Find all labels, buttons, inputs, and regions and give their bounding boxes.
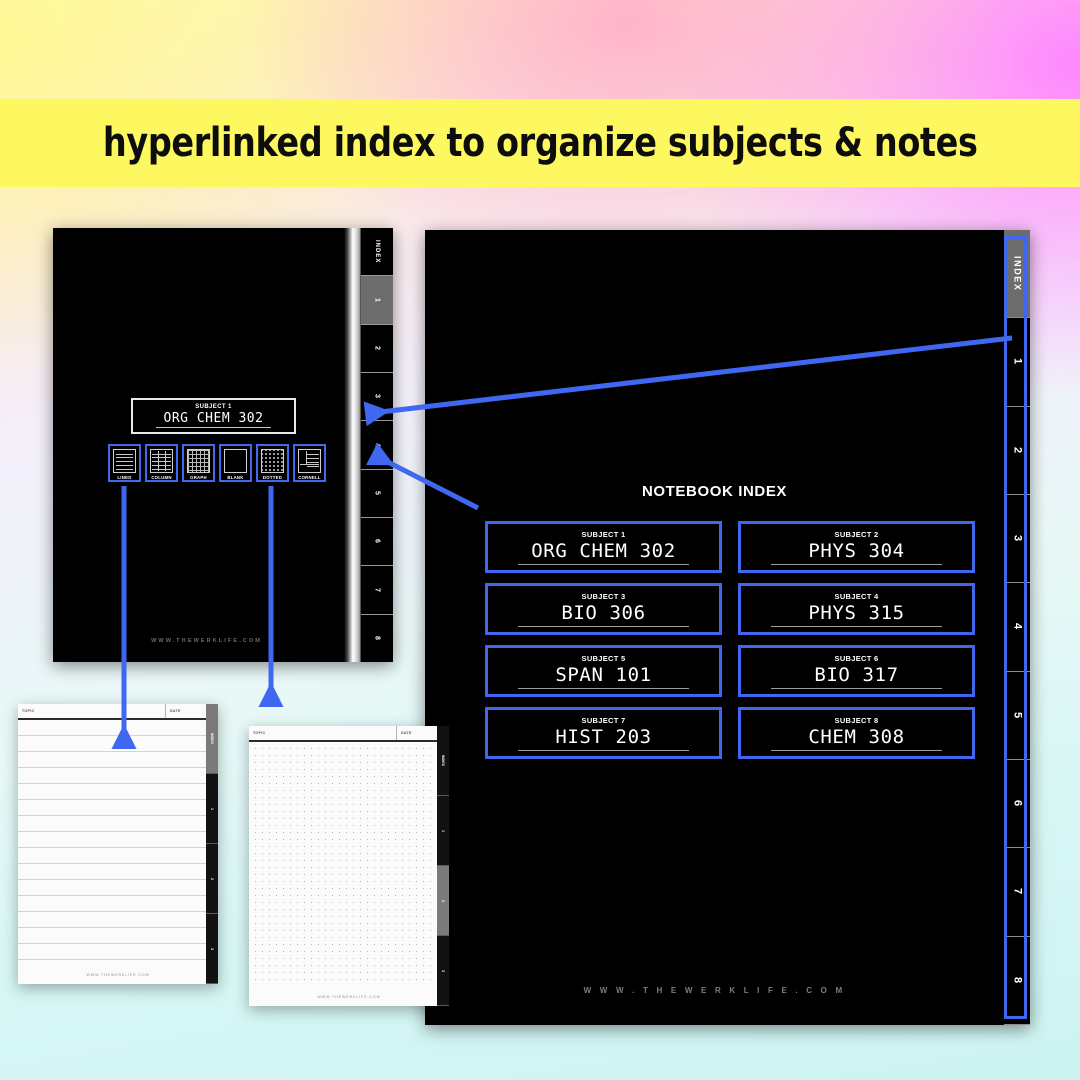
subject-label: SUBJECT 7 [582,716,626,725]
tab-5[interactable]: 5 [361,470,393,518]
tab-label: 5 [374,491,381,496]
lined-sample-tab-strip[interactable]: INDEX123 [206,704,218,984]
subject-box-6[interactable]: SUBJECT 6BIO 317 [738,645,975,697]
tab-label: 2 [441,900,445,902]
subject-value: SPAN 101 [518,664,689,689]
tab-4[interactable]: 4 [361,421,393,469]
tab-8[interactable]: 8 [1004,937,1030,1025]
tab-label: 1 [1012,358,1023,365]
column-paper-icon [150,449,173,473]
tab-2[interactable]: 2 [206,844,218,914]
notebook-index-page[interactable]: INDEX12345678 NOTEBOOK INDEX SUBJECT 1OR… [425,230,1030,1025]
index-page-tab-strip[interactable]: INDEX12345678 [1004,230,1030,1025]
tab-7[interactable]: 7 [361,566,393,614]
lined-paper-sample[interactable]: TOPIC DATE WWW.THEWERKLIFE.COM INDEX123 [18,704,218,984]
dotted-sample-watermark: WWW.THEWERKLIFE.COM [249,995,449,999]
tab-label: INDEX [374,240,380,263]
tab-label: 2 [210,878,214,880]
page-title: NOTEBOOK INDEX [425,483,1004,500]
dotted-sample-body [249,742,449,984]
subject-value: ORG CHEM 302 [518,540,689,565]
subject-label: SUBJECT 4 [835,592,879,601]
tab-5[interactable]: 5 [1004,672,1030,760]
tab-3[interactable]: 3 [1004,495,1030,583]
subject-box-3[interactable]: SUBJECT 3BIO 306 [485,583,722,635]
paper-type-label: GRAPH [190,475,207,480]
tab-label: 4 [1012,623,1023,630]
paper-type-lined[interactable]: LINED [108,444,141,482]
left-subject-field[interactable]: SUBJECT 1 ORG CHEM 302 [131,398,296,434]
paper-type-selector[interactable]: LINEDCOLUMNGRAPHBLANKDOTTEDCORNELL [108,444,326,482]
subject-value: BIO 317 [771,664,942,689]
tab-1[interactable]: 1 [361,276,393,324]
tab-label: 8 [1012,977,1023,984]
subject-grid[interactable]: SUBJECT 1ORG CHEM 302SUBJECT 2PHYS 304SU… [485,521,975,759]
index-page-watermark: W W W . T H E W E R K L I F E . C O M [425,986,1004,995]
subject-label: SUBJECT 8 [835,716,879,725]
tab-label: 5 [1012,712,1023,719]
tab-label: 1 [441,830,445,832]
tab-label: 1 [374,298,381,303]
topic-cell: TOPIC [18,704,166,718]
tab-label: 2 [374,346,381,351]
subject-label: SUBJECT 5 [582,654,626,663]
tab-4[interactable]: 4 [1004,583,1030,671]
left-page-watermark: WWW.THEWERKLIFE.COM [53,638,360,644]
tab-label: INDEX [1013,256,1022,292]
tab-index[interactable]: INDEX [437,726,449,796]
left-subject-label: SUBJECT 1 [195,404,232,410]
tab-3[interactable]: 3 [361,373,393,421]
paper-type-label: DOTTED [263,475,282,480]
lined-sample-body [18,720,218,962]
tab-label: 3 [1012,535,1023,542]
tab-1[interactable]: 1 [437,796,449,866]
tab-label: 6 [1012,800,1023,807]
dotted-paper-icon [261,449,284,473]
paper-type-label: COLUMN [151,475,171,480]
subject-value: PHYS 315 [771,602,942,627]
topic-cell: TOPIC [249,726,397,740]
subject-value: HIST 203 [518,726,689,751]
tab-label: INDEX [441,755,445,766]
blank-paper-icon [224,449,247,473]
tab-3[interactable]: 3 [437,936,449,1006]
tab-label: 7 [1012,888,1023,895]
subject-value: PHYS 304 [771,540,942,565]
paper-type-blank[interactable]: BLANK [219,444,252,482]
tab-3[interactable]: 3 [206,914,218,984]
tab-7[interactable]: 7 [1004,848,1030,936]
dotted-paper-sample[interactable]: TOPIC DATE WWW.THEWERKLIFE.COM INDEX123 [249,726,449,1006]
tab-label: 7 [374,588,381,593]
tab-1[interactable]: 1 [206,774,218,844]
tab-label: INDEX [210,733,214,744]
tab-index[interactable]: INDEX [206,704,218,774]
left-subject-value: ORG CHEM 302 [156,411,272,428]
tab-2[interactable]: 2 [437,866,449,936]
dotted-sample-header: TOPIC DATE [249,726,449,742]
tab-1[interactable]: 1 [1004,318,1030,406]
tab-label: 2 [1012,447,1023,454]
tab-label: 3 [441,970,445,972]
tab-6[interactable]: 6 [361,518,393,566]
paper-type-label: BLANK [227,475,243,480]
tab-2[interactable]: 2 [361,325,393,373]
headline-text: hyperlinked index to organize subjects &… [103,120,978,166]
tab-2[interactable]: 2 [1004,407,1030,495]
subject-label: SUBJECT 3 [582,592,626,601]
tab-label: 3 [210,948,214,950]
paper-type-cornell[interactable]: CORNELL [293,444,326,482]
subject-box-5[interactable]: SUBJECT 5SPAN 101 [485,645,722,697]
paper-type-column[interactable]: COLUMN [145,444,178,482]
tab-label: 1 [210,808,214,810]
subject-box-8[interactable]: SUBJECT 8CHEM 308 [738,707,975,759]
tab-label: 4 [374,443,381,448]
headline-banner: hyperlinked index to organize subjects &… [0,99,1080,187]
subject-value: BIO 306 [518,602,689,627]
subject-label: SUBJECT 6 [835,654,879,663]
graph-paper-icon [187,449,210,473]
tab-index[interactable]: INDEX [1004,230,1030,318]
subject-box-1[interactable]: SUBJECT 1ORG CHEM 302 [485,521,722,573]
tab-index[interactable]: INDEX [361,228,393,276]
lined-sample-watermark: WWW.THEWERKLIFE.COM [18,973,218,977]
subject-value: CHEM 308 [771,726,942,751]
dotted-sample-tab-strip[interactable]: INDEX123 [437,726,449,1006]
tab-8[interactable]: 8 [361,615,393,662]
subject-label: SUBJECT 1 [582,530,626,539]
subject-box-2[interactable]: SUBJECT 2PHYS 304 [738,521,975,573]
lined-paper-icon [113,449,136,473]
tab-6[interactable]: 6 [1004,760,1030,848]
paper-type-label: CORNELL [298,475,321,480]
lined-sample-header: TOPIC DATE [18,704,218,720]
left-page-tab-strip[interactable]: INDEX12345678 [360,228,393,662]
paper-type-dotted[interactable]: DOTTED [256,444,289,482]
page-spine [344,228,360,662]
tab-label: 8 [374,636,381,641]
paper-type-label: LINED [117,475,131,480]
subject-box-7[interactable]: SUBJECT 7HIST 203 [485,707,722,759]
tab-label: 3 [374,394,381,399]
subject-box-4[interactable]: SUBJECT 4PHYS 315 [738,583,975,635]
tab-label: 6 [374,539,381,544]
subject-label: SUBJECT 2 [835,530,879,539]
paper-type-graph[interactable]: GRAPH [182,444,215,482]
cornell-paper-icon [298,449,321,473]
